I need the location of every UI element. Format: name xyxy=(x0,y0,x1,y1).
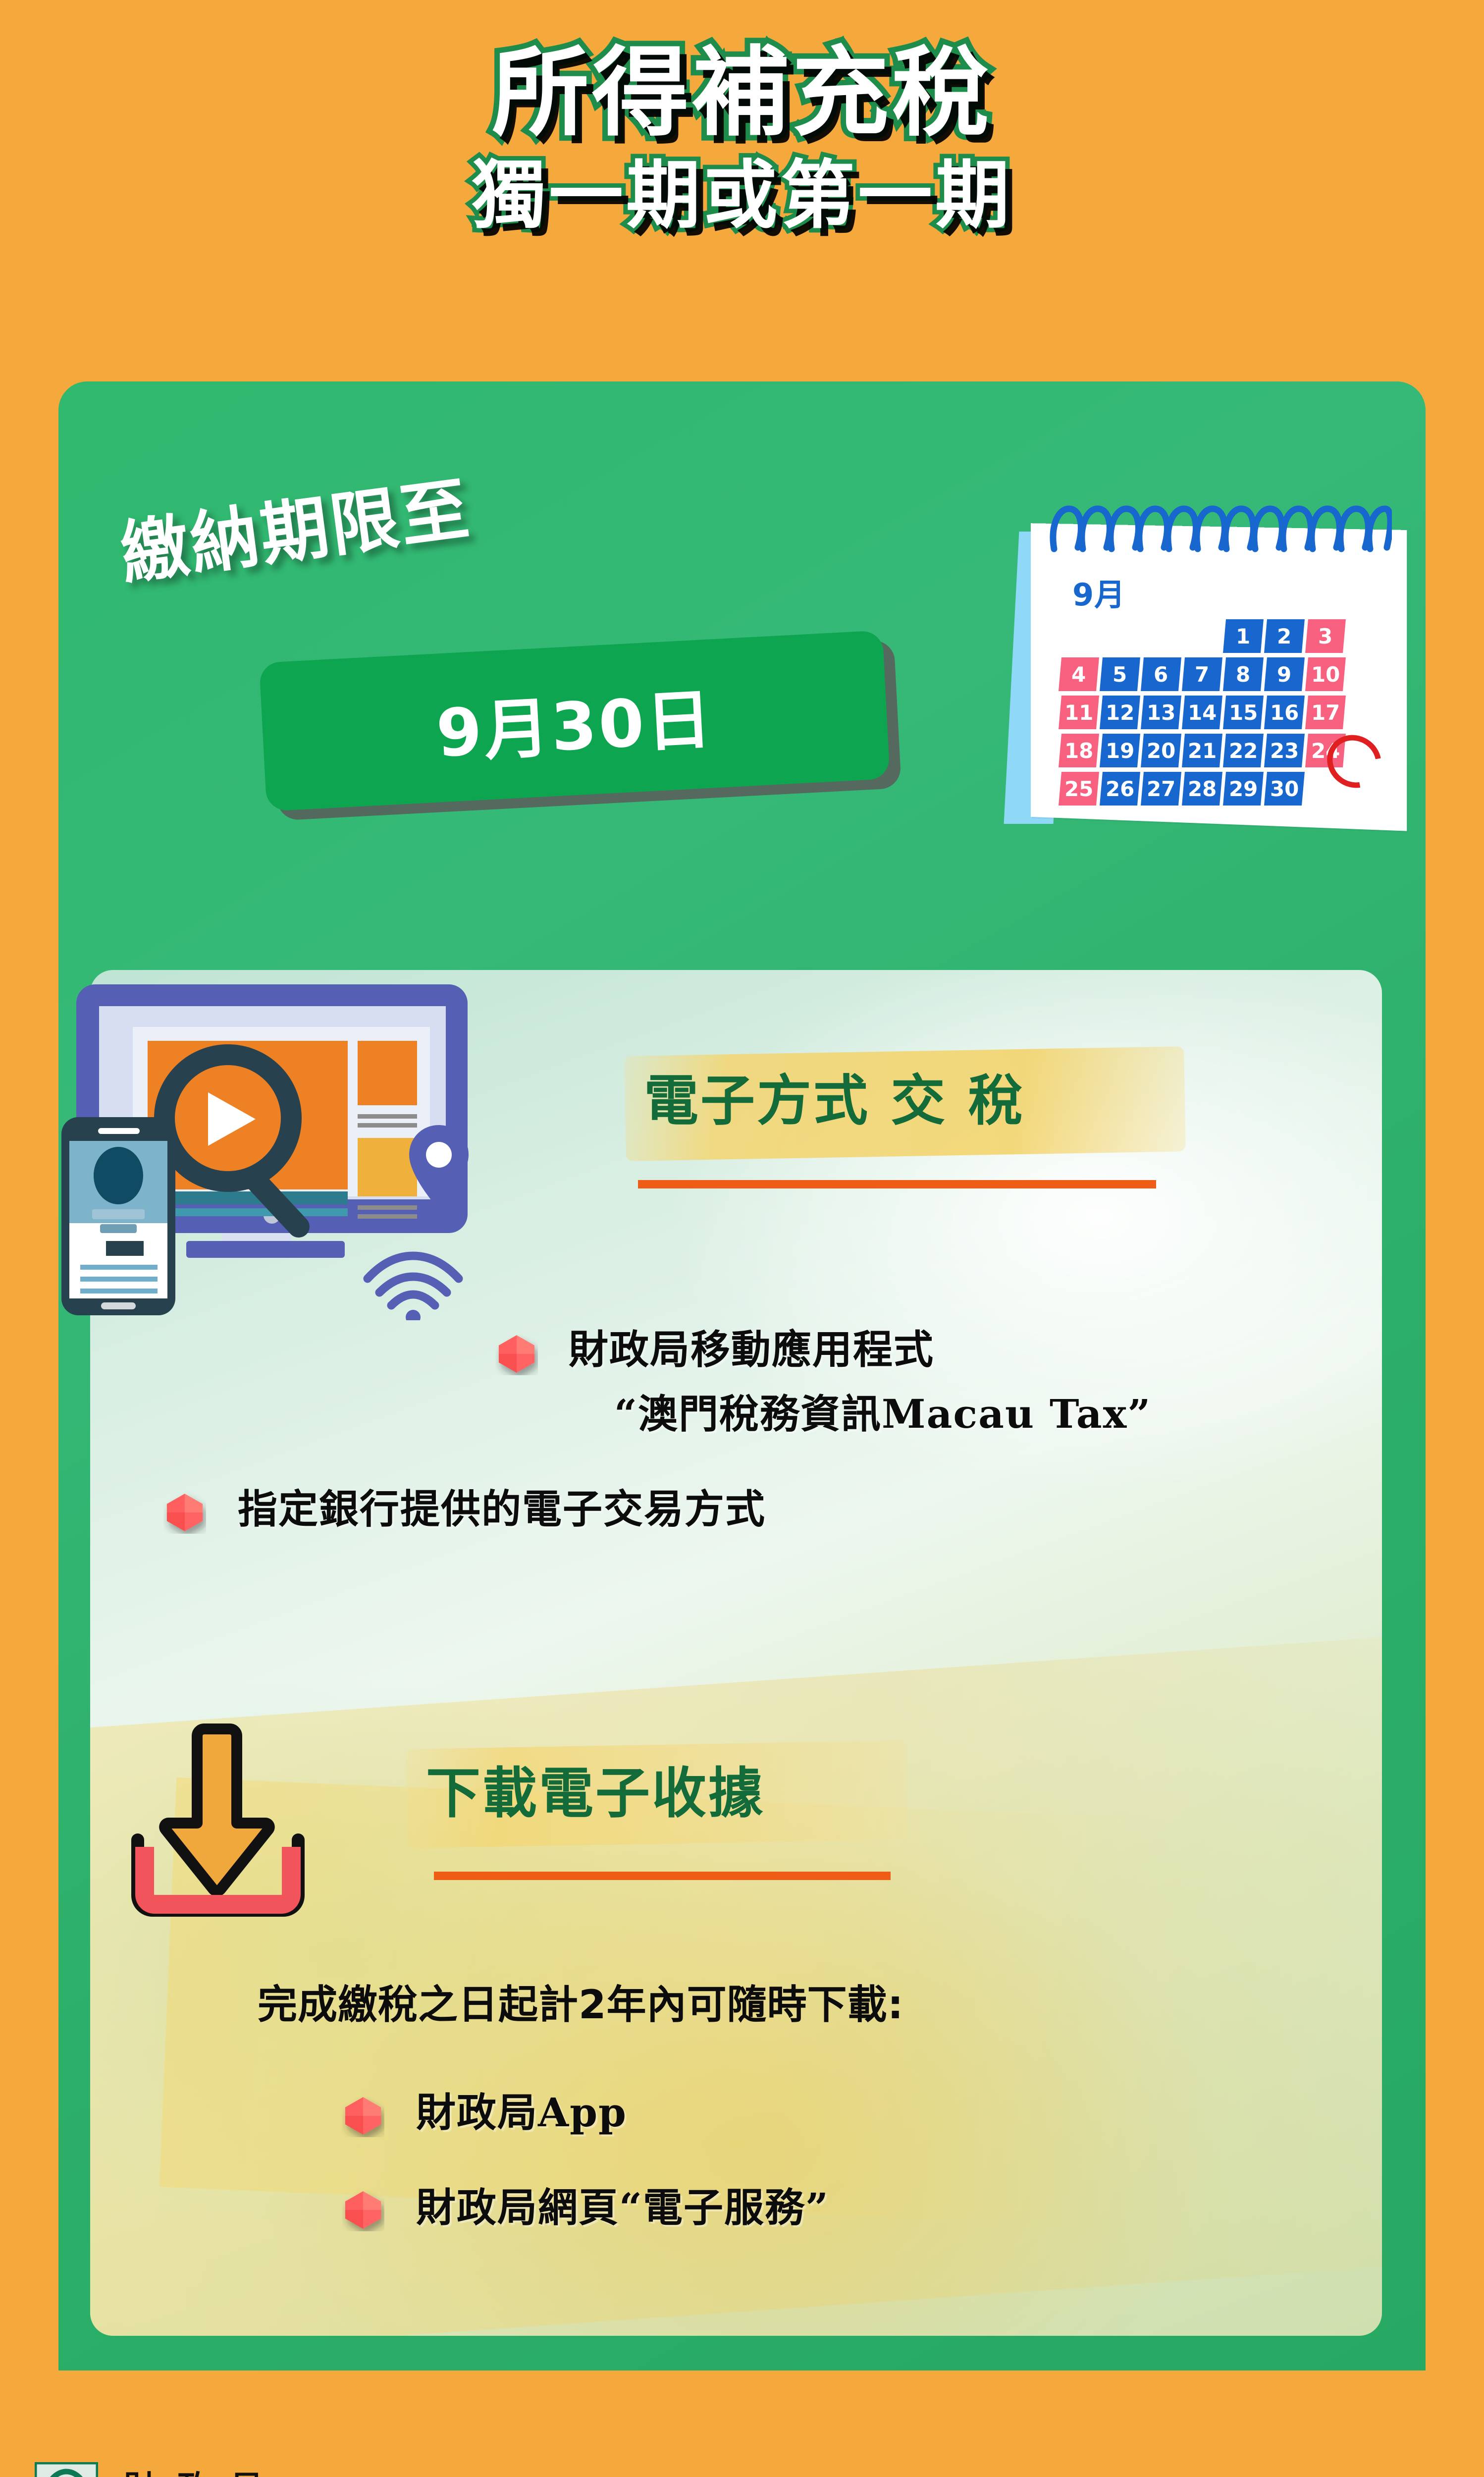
calendar-illustration: 9月 1234567891011121314151617181920212223… xyxy=(986,468,1427,835)
download-heading-rule xyxy=(434,1872,891,1880)
calendar-day-cell: 19 xyxy=(1100,734,1140,767)
hex-bullet-icon xyxy=(342,2095,384,2137)
calendar-day-cell: 11 xyxy=(1059,696,1099,729)
calendar-day-cell: 20 xyxy=(1141,734,1181,767)
calendar-day-cell: 23 xyxy=(1264,734,1305,767)
calendar-day-cell: 10 xyxy=(1305,657,1346,691)
dsf-logo-icon: DSF xyxy=(35,2462,98,2477)
calendar-day-cell: 3 xyxy=(1305,619,1346,653)
calendar-week-row: 45678910 xyxy=(1060,657,1344,691)
download-section-heading: 下載電子收據 xyxy=(426,1749,765,1828)
calendar-week-row: 18192021222324 xyxy=(1060,734,1344,767)
download-note: 完成繳稅之日起計2年內可隨時下載: xyxy=(258,1973,904,2030)
hex-bullet-icon xyxy=(342,2189,384,2231)
calendar-day-cell: 13 xyxy=(1141,696,1181,729)
calendar-day-cell: 12 xyxy=(1100,696,1140,729)
download-bullet-1: 財政局App xyxy=(416,2081,627,2138)
calendar-week-row: 123 xyxy=(1224,619,1344,653)
download-bullet-2: 財政局網頁“電子服務” xyxy=(416,2176,829,2233)
calendar-day-cell: 4 xyxy=(1059,657,1099,691)
calendar-day-cell: 27 xyxy=(1141,772,1181,806)
pay-bullet-2-line-1: 指定銀行提供的電子交易方式 xyxy=(238,1477,766,1535)
poster-title: 所得補充稅 獨一期或第一期 xyxy=(0,45,1484,233)
calendar-day-cell: 17 xyxy=(1305,696,1346,729)
calendar-day-cell: 21 xyxy=(1182,734,1222,767)
calendar-day-cell: 8 xyxy=(1223,657,1264,691)
hex-bullet-icon xyxy=(163,1491,206,1534)
deadline-date-text: 9月30日 xyxy=(434,666,716,775)
calendar-day-cell: 7 xyxy=(1182,657,1222,691)
pay-section-heading: 電子方式 交 稅 xyxy=(644,1056,1025,1135)
calendar-week-row: 252627282930 xyxy=(1060,772,1303,806)
calendar-month-label: 9月 xyxy=(1072,570,1125,614)
calendar-day-cell: 15 xyxy=(1223,696,1264,729)
footer-org-cn: 財政局 xyxy=(124,2462,284,2477)
calendar-day-cell: 29 xyxy=(1223,772,1264,806)
pay-bullet-1-line-2: “澳門稅務資訊Macau Tax” xyxy=(614,1382,1151,1440)
title-subtitle: 獨一期或第一期 xyxy=(0,159,1484,233)
calendar-day-cell: 25 xyxy=(1059,772,1099,806)
calendar-day-cell: 9 xyxy=(1264,657,1305,691)
calendar-day-cell: 26 xyxy=(1100,772,1140,806)
download-icon xyxy=(119,1719,317,1927)
calendar-day-cell: 1 xyxy=(1223,619,1264,653)
devices-illustration xyxy=(53,944,489,1320)
calendar-day-cell: 16 xyxy=(1264,696,1305,729)
pay-heading-rule xyxy=(638,1180,1156,1188)
calendar-day-cell: 14 xyxy=(1182,696,1222,729)
calendar-day-cell: 5 xyxy=(1100,657,1140,691)
calendar-day-cell: 6 xyxy=(1141,657,1181,691)
calendar-week-row: 11121314151617 xyxy=(1060,696,1344,729)
calendar-day-cell: 18 xyxy=(1059,734,1099,767)
hex-bullet-icon xyxy=(495,1333,538,1375)
calendar-day-cell: 2 xyxy=(1264,619,1305,653)
title-main: 所得補充稅 xyxy=(0,45,1484,142)
calendar-day-cell: 30 xyxy=(1264,772,1305,806)
pay-bullet-1-line-1: 財政局移動應用程式 xyxy=(569,1318,934,1375)
calendar-day-cell: 28 xyxy=(1182,772,1222,806)
footer: DSF 財政局 Direcção dos Serviços de Finança… xyxy=(0,2393,1484,2477)
calendar-day-cell: 22 xyxy=(1223,734,1264,767)
calendar-spiral-rings xyxy=(1045,502,1392,556)
